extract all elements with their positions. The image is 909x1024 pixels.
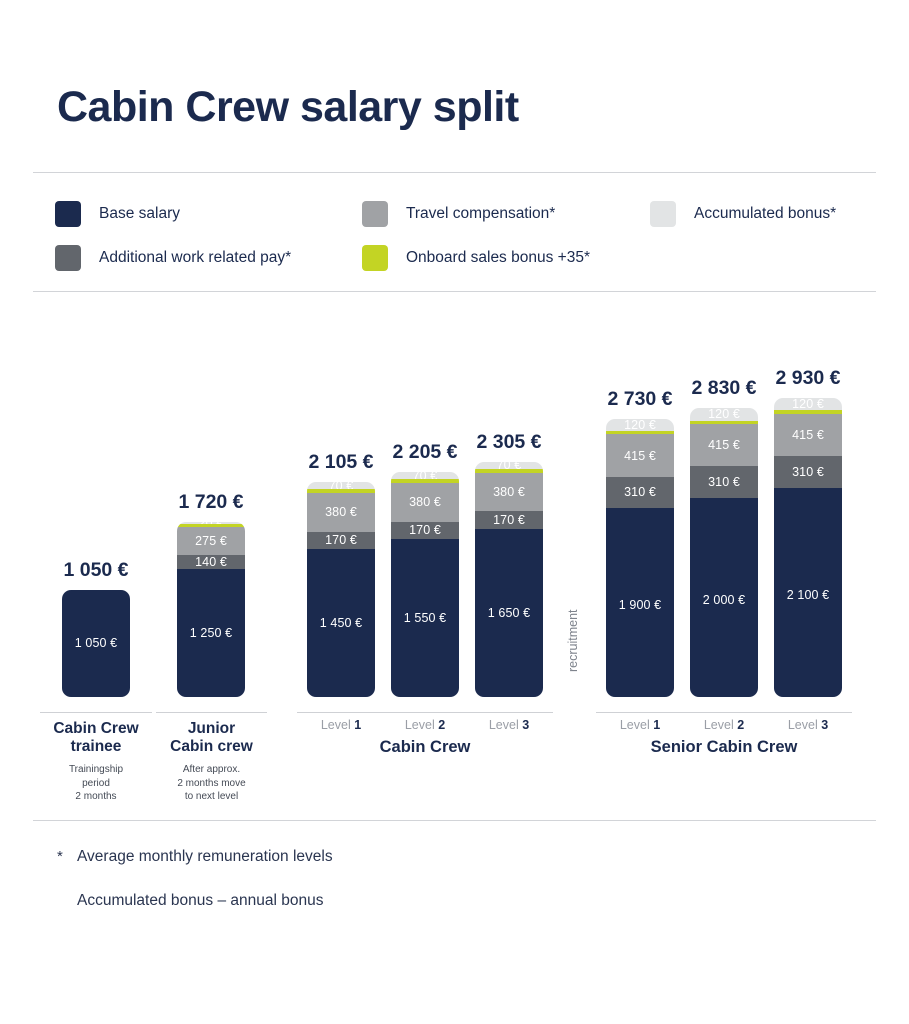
group-baseline-rule: [596, 712, 852, 713]
bar-segment-additional: 310 €: [774, 456, 842, 488]
bar-segment-value: 415 €: [792, 428, 824, 442]
bar-segment-bonus: 120 €: [774, 398, 842, 410]
bar-segment-value: 2 100 €: [787, 588, 829, 602]
category-label-line: Junior: [122, 720, 302, 738]
category-label-line: Cabin crew: [122, 738, 302, 756]
level-label: Level 3: [758, 718, 858, 732]
footnote-row: Accumulated bonus – annual bonus: [57, 892, 757, 910]
bar-segment-bonus: 70 €: [307, 482, 375, 489]
bar-segment-additional: 170 €: [307, 532, 375, 549]
bar-segment-base: 1 450 €: [307, 549, 375, 697]
bar-segment-travel: 275 €: [177, 527, 245, 555]
bar-single[interactable]: 20 €275 €140 €1 250 €: [177, 522, 245, 697]
footnote-text: Average monthly remuneration levels: [77, 848, 333, 866]
bar-total-label: 1 050 €: [36, 559, 156, 582]
bar-segment-bonus: 70 €: [475, 462, 543, 469]
bar-segment-value: 1 900 €: [619, 598, 661, 612]
footnote-row: *Average monthly remuneration levels: [57, 848, 757, 866]
bar-segment-value: 120 €: [624, 419, 656, 431]
bar-segment-travel: 380 €: [391, 483, 459, 522]
bar-level-3[interactable]: 70 €380 €170 €1 650 €: [475, 462, 543, 697]
bar-level-1[interactable]: 120 €415 €310 €1 900 €: [606, 419, 674, 697]
bar-segment-value: 2 000 €: [703, 593, 745, 607]
bar-segment-value: 120 €: [708, 408, 740, 420]
bar-segment-value: 310 €: [792, 465, 824, 479]
group-baseline-rule: [156, 712, 267, 713]
bar-segment-travel: 415 €: [774, 414, 842, 456]
infographic-page: Cabin Crew salary split Base salaryTrave…: [0, 0, 909, 1024]
footnotes: *Average monthly remuneration levelsAccu…: [57, 848, 757, 936]
bar-segment-value: 1 550 €: [404, 611, 446, 625]
bar-segment-base: 2 100 €: [774, 488, 842, 697]
bar-segment-value: 415 €: [708, 438, 740, 452]
bar-segment-additional: 310 €: [606, 477, 674, 509]
bar-segment-base: 2 000 €: [690, 498, 758, 697]
bar-segment-value: 1 250 €: [190, 626, 232, 640]
bar-segment-base: 1 250 €: [177, 569, 245, 697]
category-note-line: After approx.: [132, 763, 292, 777]
bar-segment-value: 275 €: [195, 534, 227, 548]
bar-segment-travel: 415 €: [690, 424, 758, 466]
recruitment-axis-label: recruitment: [566, 609, 580, 672]
bar-level-3[interactable]: 120 €415 €310 €2 100 €: [774, 398, 842, 697]
bar-total-label: 2 930 €: [748, 367, 868, 390]
bar-level-2[interactable]: 120 €415 €310 €2 000 €: [690, 408, 758, 697]
bar-segment-bonus: 120 €: [690, 408, 758, 420]
bar-segment-additional: 170 €: [475, 511, 543, 528]
footnote-marker: *: [57, 848, 77, 865]
bar-segment-value: 1 450 €: [320, 616, 362, 630]
bar-segment-travel: 380 €: [307, 493, 375, 532]
bar-segment-value: 140 €: [195, 555, 227, 569]
group-name-label: Senior Cabin Crew: [584, 738, 864, 757]
bar-segment-bonus: 70 €: [391, 472, 459, 479]
level-label: Level 3: [459, 718, 559, 732]
bar-segment-travel: 415 €: [606, 434, 674, 476]
bar-segment-base: 1 900 €: [606, 508, 674, 697]
bar-segment-value: 120 €: [792, 398, 824, 410]
category-label: JuniorCabin crew: [122, 720, 302, 757]
bar-segment-base: 1 550 €: [391, 539, 459, 697]
bar-segment-value: 380 €: [325, 505, 357, 519]
category-note: After approx.2 months moveto next level: [132, 763, 292, 804]
bar-segment-value: 170 €: [325, 533, 357, 547]
bar-level-2[interactable]: 70 €380 €170 €1 550 €: [391, 472, 459, 697]
bar-segment-base: 1 050 €: [62, 590, 130, 697]
bar-segment-value: 170 €: [493, 513, 525, 527]
bar-segment-bonus: 120 €: [606, 419, 674, 431]
bar-segment-value: 380 €: [493, 485, 525, 499]
bar-total-label: 1 720 €: [151, 491, 271, 514]
bar-segment-additional: 310 €: [690, 466, 758, 498]
bar-segment-value: 70 €: [329, 482, 354, 489]
group-baseline-rule: [297, 712, 553, 713]
bar-single[interactable]: 1 050 €: [62, 590, 130, 697]
bar-segment-value: 310 €: [624, 485, 656, 499]
bar-segment-value: 1 050 €: [75, 636, 117, 650]
bar-segment-value: 380 €: [409, 495, 441, 509]
bar-level-1[interactable]: 70 €380 €170 €1 450 €: [307, 482, 375, 697]
category-note-line: to next level: [132, 790, 292, 804]
bar-segment-value: 415 €: [624, 449, 656, 463]
group-baseline-rule: [40, 712, 152, 713]
bar-segment-travel: 380 €: [475, 473, 543, 512]
bar-segment-value: 70 €: [497, 462, 522, 469]
bar-segment-base: 1 650 €: [475, 529, 543, 697]
bar-segment-value: 310 €: [708, 475, 740, 489]
bar-segment-additional: 170 €: [391, 522, 459, 539]
bar-segment-additional: 140 €: [177, 555, 245, 569]
bar-total-label: 2 305 €: [449, 431, 569, 454]
group-name-label: Cabin Crew: [285, 738, 565, 757]
category-note-line: 2 months move: [132, 777, 292, 791]
footnote-text: Accumulated bonus – annual bonus: [77, 892, 323, 910]
bar-segment-value: 1 650 €: [488, 606, 530, 620]
bar-segment-value: 170 €: [409, 523, 441, 537]
bar-segment-value: 70 €: [413, 472, 438, 479]
